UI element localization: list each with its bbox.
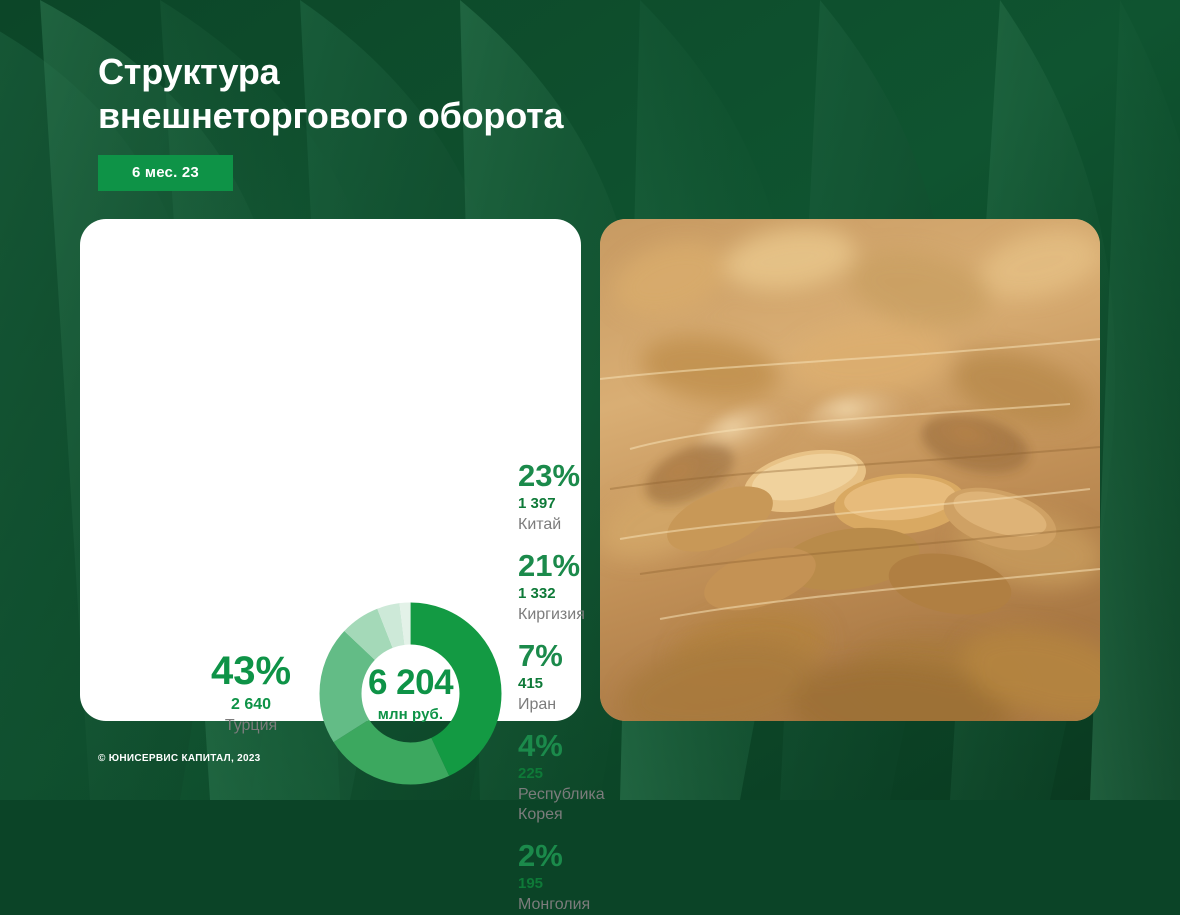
label-south-korea-name: Республика Корея [518, 785, 678, 825]
label-south-korea-value: 225 [518, 765, 678, 784]
chart-card: 6 204 млн руб. 43% 2 640 Турция 23% 1 39… [80, 219, 581, 721]
label-turkey-percent: 43% [176, 651, 326, 691]
label-south-korea: 4% 225 Республика Корея [518, 730, 678, 825]
wheat-grain-photo [600, 219, 1100, 721]
period-badge: 6 мес. 23 [98, 155, 233, 191]
header: Структура внешнеторгового оборота 6 мес.… [98, 50, 798, 191]
label-south-korea-percent: 4% [518, 730, 678, 761]
photo-card [600, 219, 1100, 721]
label-turkey-value: 2 640 [176, 695, 326, 715]
copyright: © ЮНИСЕРВИС КАПИТАЛ, 2023 [98, 753, 261, 764]
label-mongolia: 2% 195 Монголия [518, 840, 678, 915]
donut-chart: 6 204 млн руб. [318, 601, 503, 786]
page-title: Структура внешнеторгового оборота [98, 50, 798, 138]
label-turkey: 43% 2 640 Турция [176, 651, 326, 736]
label-mongolia-percent: 2% [518, 840, 678, 871]
label-mongolia-name: Монголия [518, 895, 678, 915]
label-mongolia-value: 195 [518, 875, 678, 894]
label-turkey-name: Турция [176, 716, 326, 736]
